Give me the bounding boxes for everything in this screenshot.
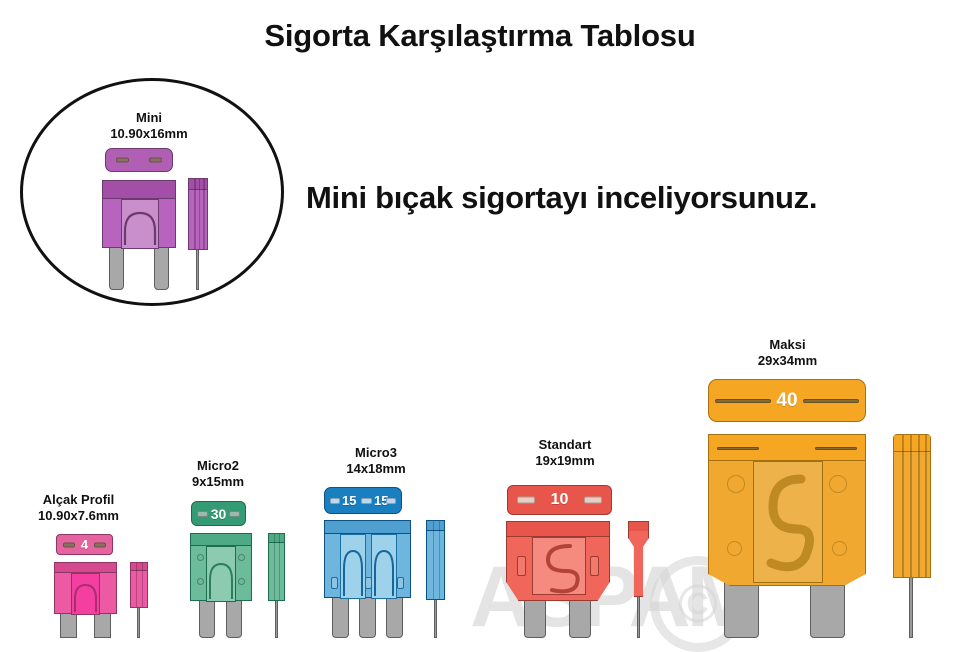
alcak-profil-side-ridge-2 bbox=[142, 563, 143, 607]
maksi-hole-bot-left bbox=[727, 541, 742, 556]
fuse-label-alcak-profil: Alçak Profil 10.90x7.6mm bbox=[6, 492, 151, 525]
alcak-profil-front-view bbox=[50, 562, 120, 638]
fuse-size-standart: 19x19mm bbox=[505, 453, 625, 469]
fuse-size-alcak-profil: 10.90x7.6mm bbox=[6, 508, 151, 524]
micro2-window bbox=[206, 546, 236, 602]
alcak-profil-side-ridge-1 bbox=[136, 563, 137, 607]
alcak-profil-cap bbox=[55, 563, 116, 573]
micro2-front-view bbox=[186, 533, 256, 638]
fuse-label-micro2: Micro2 9x15mm bbox=[163, 458, 273, 491]
micro2-cap bbox=[191, 534, 251, 546]
micro3-notch-right bbox=[397, 577, 404, 589]
mini-front-view bbox=[100, 180, 178, 290]
micro2-hole-left-2 bbox=[197, 578, 204, 585]
alcak-profil-side-view bbox=[128, 560, 152, 638]
micro3-side-cap bbox=[427, 521, 444, 531]
micro3-amp-left: 15 bbox=[342, 494, 356, 507]
alcak-profil-slot-left bbox=[63, 542, 75, 547]
micro2-hole-left bbox=[197, 554, 204, 561]
page-subtitle: Mini bıçak sigortayı inceliyorsunuz. bbox=[306, 180, 926, 216]
maksi-hole-top-right bbox=[829, 475, 847, 493]
alcak-profil-window bbox=[71, 573, 100, 615]
micro2-hole-right bbox=[238, 554, 245, 561]
alcak-profil-body bbox=[54, 562, 117, 614]
magnifier-size: 10.90x16mm bbox=[69, 126, 229, 142]
maksi-amp: 40 bbox=[776, 391, 797, 410]
maksi-cap-slot-left bbox=[717, 447, 759, 450]
maksi-slot-right bbox=[803, 399, 859, 403]
mini-side-ridge-1 bbox=[194, 179, 196, 249]
fuse-label-standart: Standart 19x19mm bbox=[505, 437, 625, 470]
maksi-slot-left bbox=[715, 399, 771, 403]
micro3-body bbox=[324, 520, 411, 598]
maksi-body bbox=[708, 434, 866, 586]
maksi-side-pin bbox=[909, 572, 913, 638]
maksi-window bbox=[753, 461, 823, 583]
standart-side-body bbox=[628, 521, 649, 597]
magnifier-label: Mini 10.90x16mm bbox=[69, 110, 229, 143]
maksi-cap-slot-right bbox=[815, 447, 857, 450]
fuse-size-micro3: 14x18mm bbox=[316, 461, 436, 477]
alcak-profil-amp: 4 bbox=[81, 538, 88, 551]
micro2-amp: 30 bbox=[211, 507, 227, 521]
mini-side-body bbox=[188, 178, 208, 250]
mini-side-view bbox=[186, 178, 212, 290]
micro2-top-view: 30 bbox=[191, 501, 246, 526]
mini-top-view bbox=[105, 148, 173, 172]
micro3-window-left bbox=[340, 534, 366, 599]
mini-body bbox=[102, 180, 176, 248]
alcak-profil-top-view: 4 bbox=[56, 534, 113, 555]
micro3-top-view: 15 15 bbox=[324, 487, 402, 514]
micro2-side-cap bbox=[269, 534, 284, 543]
mini-side-pin bbox=[196, 246, 199, 290]
maksi-front-view bbox=[706, 434, 870, 638]
fuse-label-maksi: Maksi 29x34mm bbox=[725, 337, 850, 370]
maksi-side-ridge-4 bbox=[925, 435, 927, 577]
fuse-size-micro2: 9x15mm bbox=[163, 474, 273, 490]
maksi-side-ridge-1 bbox=[902, 435, 904, 577]
maksi-hole-bot-right bbox=[832, 541, 847, 556]
mini-slot-left bbox=[116, 158, 129, 163]
micro3-window-right bbox=[371, 534, 397, 599]
fuse-name-maksi: Maksi bbox=[725, 337, 850, 353]
standart-side-pin bbox=[637, 593, 640, 638]
maksi-side-ridge-2 bbox=[910, 435, 912, 577]
standart-amp: 10 bbox=[551, 492, 569, 508]
maksi-hole-top-left bbox=[727, 475, 745, 493]
micro3-slot-1 bbox=[330, 498, 340, 504]
mini-slot-right bbox=[149, 158, 162, 163]
maksi-side-ridge-3 bbox=[918, 435, 920, 577]
micro3-slot-2 bbox=[361, 498, 372, 504]
micro2-side-ridge-2 bbox=[279, 534, 280, 600]
mini-window bbox=[121, 199, 159, 249]
standart-notch-left bbox=[517, 556, 526, 576]
standart-side-cap bbox=[629, 522, 648, 531]
fuse-size-maksi: 29x34mm bbox=[725, 353, 850, 369]
micro2-slot-right bbox=[229, 511, 240, 517]
maksi-side-body bbox=[893, 434, 931, 578]
mini-side-ridge-2 bbox=[199, 179, 201, 249]
micro2-side-pin bbox=[275, 595, 278, 638]
maksi-side-view bbox=[890, 432, 934, 638]
micro2-side-view bbox=[266, 531, 290, 638]
micro3-front-view bbox=[322, 520, 414, 638]
standart-slot-left bbox=[517, 497, 535, 504]
micro3-notch-mid bbox=[365, 577, 372, 589]
fuse-label-micro3: Micro3 14x18mm bbox=[316, 445, 436, 478]
mini-side-ridge-3 bbox=[203, 179, 205, 249]
page-title: Sigorta Karşılaştırma Tablosu bbox=[0, 18, 960, 54]
alcak-profil-side-pin bbox=[137, 604, 140, 638]
standart-body bbox=[506, 521, 610, 601]
standart-top-view: 10 bbox=[507, 485, 612, 515]
alcak-profil-slot-right bbox=[94, 542, 106, 547]
micro3-side-ridge-2 bbox=[439, 521, 440, 599]
standart-front-view bbox=[504, 521, 614, 638]
micro3-side-pin bbox=[434, 594, 437, 638]
magnifier-name: Mini bbox=[69, 110, 229, 126]
fuse-name-standart: Standart bbox=[505, 437, 625, 453]
fuse-name-micro2: Micro2 bbox=[163, 458, 273, 474]
standart-side-view bbox=[625, 519, 655, 638]
micro3-slot-3 bbox=[386, 498, 396, 504]
alcak-profil-side-cap bbox=[131, 563, 147, 571]
micro2-side-ridge-1 bbox=[274, 534, 275, 600]
standart-cap bbox=[507, 522, 609, 537]
micro3-side-ridge-1 bbox=[433, 521, 434, 599]
micro3-side-body bbox=[426, 520, 445, 600]
micro2-side-body bbox=[268, 533, 285, 601]
micro3-cap bbox=[325, 521, 410, 534]
mini-cap bbox=[103, 181, 175, 199]
fuse-comparison-chart: Sigorta Karşılaştırma Tablosu Mini 10.90… bbox=[0, 0, 960, 639]
fuse-name-micro3: Micro3 bbox=[316, 445, 436, 461]
standart-window bbox=[532, 537, 586, 595]
alcak-profil-side-body bbox=[130, 562, 148, 608]
micro2-hole-right-2 bbox=[238, 578, 245, 585]
fuse-name-alcak-profil: Alçak Profil bbox=[6, 492, 151, 508]
micro3-notch-left bbox=[331, 577, 338, 589]
micro3-side-view bbox=[424, 518, 450, 638]
micro2-body bbox=[190, 533, 252, 601]
micro2-slot-left bbox=[197, 511, 208, 517]
maksi-top-view: 40 bbox=[708, 379, 866, 422]
standart-slot-right bbox=[584, 497, 602, 504]
standart-notch-right bbox=[590, 556, 599, 576]
